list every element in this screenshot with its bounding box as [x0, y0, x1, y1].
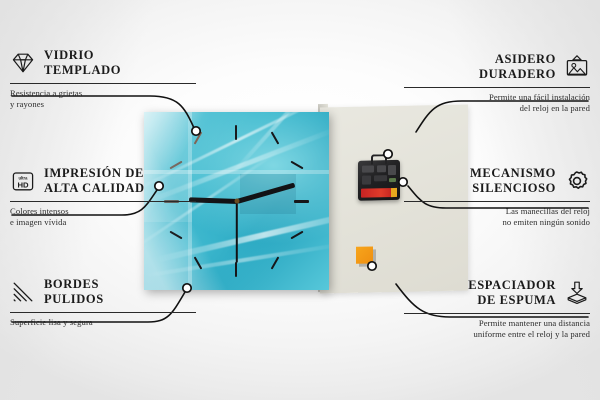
mechanism-detail [389, 178, 396, 182]
feature-description: Superficie lisa y segura [10, 317, 196, 329]
feature-divider [404, 313, 590, 314]
feature-description-line: y rayones [10, 99, 196, 111]
mechanism-detail [388, 165, 396, 175]
feature-header: VIDRIO TEMPLADO [10, 48, 196, 78]
mechanism-detail [362, 165, 374, 172]
feature-espaciador-de-espuma[interactable]: ESPACIADOR DE ESPUMA Permite mantener un… [404, 278, 590, 341]
feature-title: ASIDERO DURADERO [479, 52, 556, 82]
feature-description-line: no emiten ningún sonido [404, 217, 590, 229]
hour-tick-3 [294, 200, 309, 203]
hour-tick-5 [271, 256, 280, 269]
feature-title: VIDRIO TEMPLADO [44, 48, 121, 78]
feature-impresion-alta-calidad[interactable]: ultra HD IMPRESIÓN DE ALTA CALIDAD Color… [10, 166, 196, 229]
feature-divider [404, 201, 590, 202]
hour-tick-4 [290, 231, 303, 240]
feature-description-line: uniforme entre el reloj y la pared [404, 329, 590, 341]
ultra-hd-icon: ultra HD [10, 169, 36, 193]
feature-description-line: Colores intensos [10, 206, 196, 218]
feature-header: ultra HD IMPRESIÓN DE ALTA CALIDAD [10, 166, 196, 196]
foam-spacer-pad [356, 246, 373, 263]
feature-description-line: e imagen vívida [10, 217, 196, 229]
hour-tick-1 [271, 131, 280, 144]
mechanism-detail [362, 175, 371, 184]
feature-description-line: Permite mantener una distancia [404, 318, 590, 330]
feature-description: Resistencia a grietas y rayones [10, 88, 196, 112]
feature-description-line: Resistencia a grietas [10, 88, 196, 100]
feature-description-line: Las manecillas del reloj [404, 206, 590, 218]
feature-divider [404, 87, 590, 88]
battery-terminal [391, 188, 397, 197]
gear-icon [564, 169, 590, 193]
feature-title: IMPRESIÓN DE ALTA CALIDAD [44, 166, 145, 196]
feature-description-line: Superficie lisa y segura [10, 317, 196, 329]
feature-header: ESPACIADOR DE ESPUMA [404, 278, 590, 308]
mechanism-detail [374, 175, 387, 181]
diamond-icon [10, 51, 36, 75]
feature-bordes-pulidos[interactable]: BORDES PULIDOS Superficie lisa y segura [10, 277, 196, 328]
mechanism-detail [377, 165, 386, 172]
hour-tick-6 [235, 262, 237, 277]
polished-edges-icon [10, 280, 36, 304]
face-streak [227, 112, 329, 179]
feature-divider [10, 312, 196, 313]
feature-description-line: Permite una fácil instalación [404, 92, 590, 104]
feature-description: Colores intensos e imagen vívida [10, 206, 196, 230]
svg-text:HD: HD [17, 180, 29, 189]
feature-mecanismo-silencioso[interactable]: MECANISMO SILENCIOSO Las manecillas del … [404, 166, 590, 229]
clock-mechanism [358, 160, 400, 201]
hour-tick-11 [194, 131, 203, 144]
mechanism-hanger-tab [371, 154, 387, 164]
feature-title: ESPACIADOR DE ESPUMA [468, 278, 556, 308]
clock-battery [361, 188, 397, 198]
feature-divider [10, 83, 196, 84]
feature-description: Las manecillas del reloj no emiten ningú… [404, 206, 590, 230]
clock-hands-hub [234, 199, 239, 204]
hour-tick-2 [290, 161, 303, 170]
feature-title: BORDES PULIDOS [44, 277, 104, 307]
feature-title: MECANISMO SILENCIOSO [470, 166, 556, 196]
feature-header: BORDES PULIDOS [10, 277, 196, 307]
feature-header: MECANISMO SILENCIOSO [404, 166, 590, 196]
feature-description: Permite mantener una distancia uniforme … [404, 318, 590, 342]
hanging-frame-icon [564, 55, 590, 79]
feature-description-line: del reloj en la pared [404, 103, 590, 115]
feature-header: ASIDERO DURADERO [404, 52, 590, 82]
hour-tick-12 [235, 125, 237, 140]
feature-vidrio-templado[interactable]: VIDRIO TEMPLADO Resistencia a grietas y … [10, 48, 196, 111]
feature-divider [10, 201, 196, 202]
foam-spacer-icon [564, 281, 590, 305]
feature-description: Permite una fácil instalación del reloj … [404, 92, 590, 116]
feature-asidero-duradero[interactable]: ASIDERO DURADERO Permite una fácil insta… [404, 52, 590, 115]
second-hand [236, 201, 238, 263]
infographic-canvas: VIDRIO TEMPLADO Resistencia a grietas y … [0, 0, 600, 400]
